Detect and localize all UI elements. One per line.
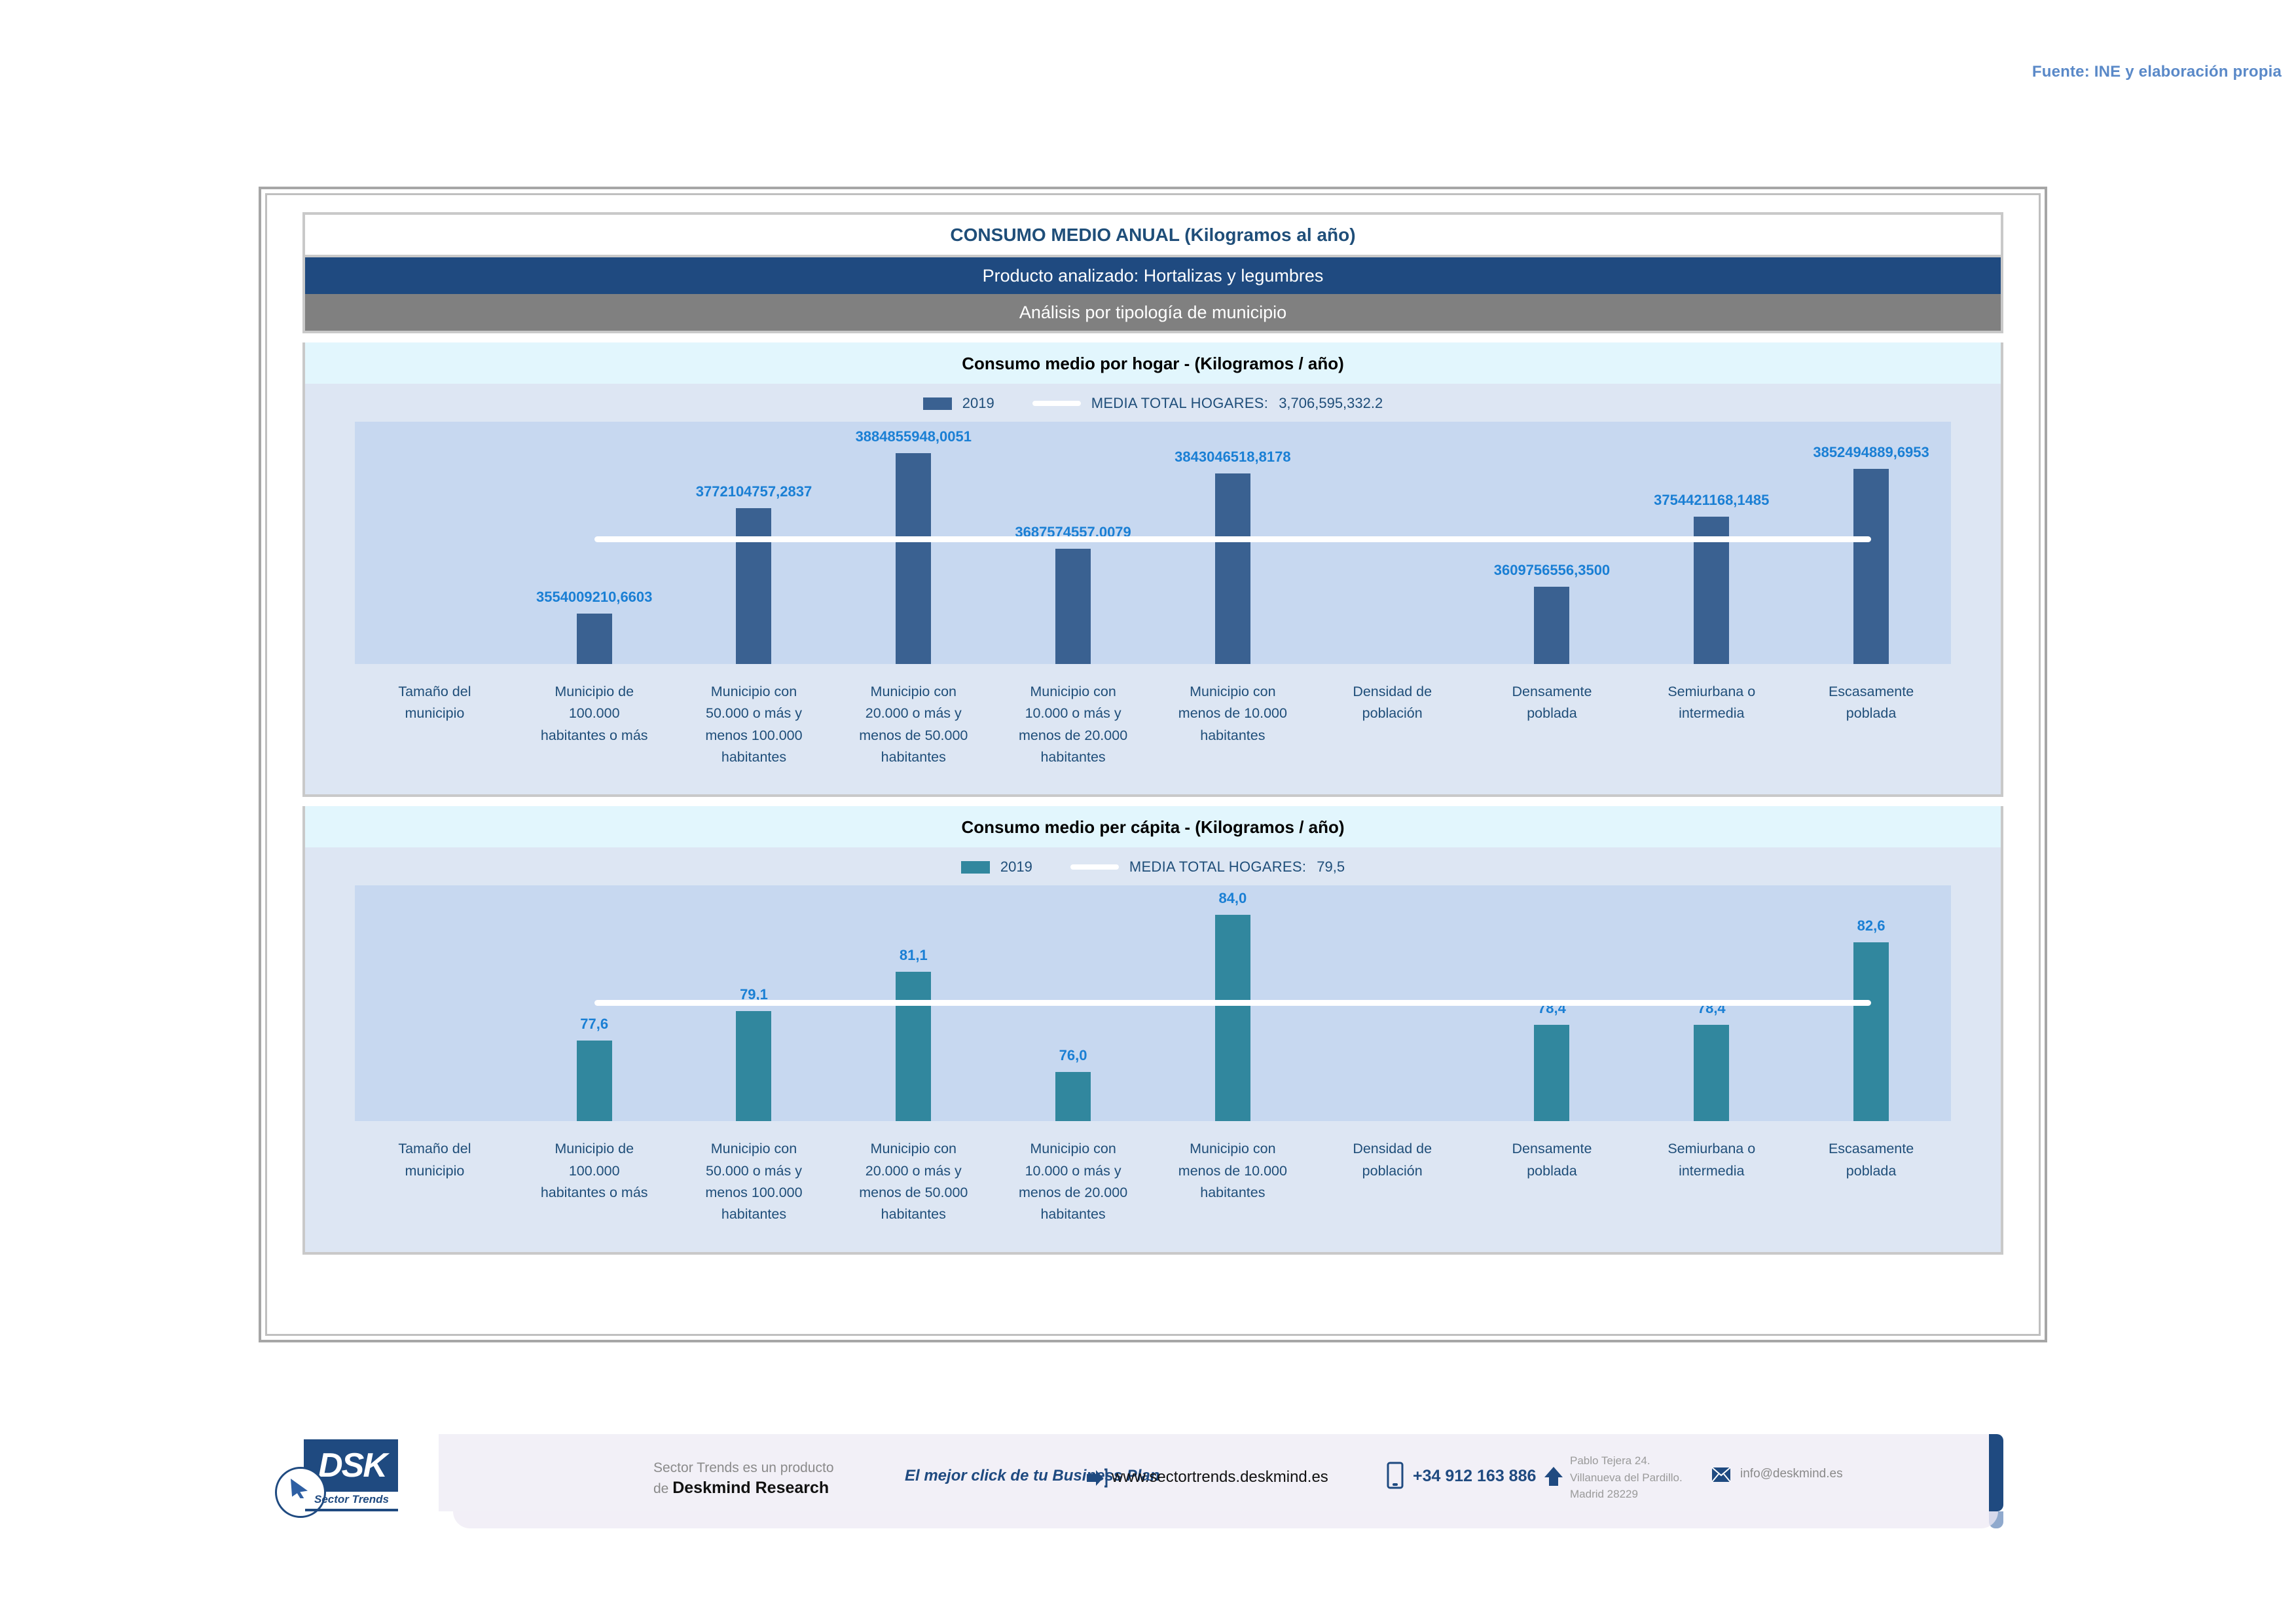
bar-value-label: 84,0	[1218, 890, 1247, 907]
slide-frame-outer: CONSUMO MEDIO ANUAL (Kilogramos al año) …	[259, 187, 2047, 1342]
bar-slot: 3687574557,0079	[993, 422, 1153, 664]
x-axis-category-label: Municipio con20.000 o más ymenos de 50.0…	[833, 681, 993, 768]
x-axis-category-line: 100.000	[517, 703, 672, 724]
bar	[577, 614, 612, 664]
x-axis-category-label: Municipio con50.000 o más ymenos 100.000…	[674, 1138, 834, 1225]
legend-label-2019-percapita: 2019	[1000, 858, 1032, 876]
x-axis-category-label: Municipio de100.000habitantes o más	[515, 1138, 674, 1225]
bar-value-label: 82,6	[1857, 917, 1886, 934]
x-axis-category-line: Municipio con	[836, 681, 991, 703]
mean-line-percapita	[594, 1000, 1871, 1006]
bar	[577, 1041, 612, 1121]
x-axis-category-line: habitantes	[1156, 1182, 1310, 1204]
x-axis-category-line: habitantes	[996, 747, 1150, 768]
x-axis-category-label: Densidad depoblación	[1313, 681, 1472, 768]
bar-value-label: 77,6	[580, 1016, 608, 1033]
bar-slot	[1313, 422, 1472, 664]
x-axis-category-line: población	[1315, 1160, 1470, 1182]
bar	[1215, 915, 1250, 1121]
x-axis-category-line: 20.000 o más y	[836, 703, 991, 724]
plot-wrap-percapita: 77,679,181,176,084,078,478,482,6	[305, 885, 2001, 1121]
bar	[1055, 1072, 1091, 1121]
bar-slot: 3852494889,6953	[1791, 422, 1951, 664]
legend-mean-value-percapita: 79,5	[1317, 858, 1345, 876]
legend-swatch-2019	[923, 397, 952, 410]
x-axis-category-line: Municipio con	[677, 1138, 831, 1160]
page-title: CONSUMO MEDIO ANUAL (Kilogramos al año)	[302, 212, 2003, 257]
x-axis-category-line: menos de 10.000	[1156, 703, 1310, 724]
legend-mean-line-icon-percapita	[1070, 864, 1119, 870]
x-axis-category-line: Escasamente	[1794, 1138, 1948, 1160]
footer-accent-bar	[1989, 1434, 2003, 1511]
legend-label-2019: 2019	[962, 395, 994, 412]
bar-value-label: 76,0	[1059, 1047, 1087, 1064]
section-title-percapita: Consumo medio per cápita - (Kilogramos /…	[302, 806, 2003, 847]
footer: Sector Trends es un producto de Deskmind…	[275, 1428, 2030, 1519]
x-axis-category-label: Semiurbana ointermedia	[1631, 1138, 1791, 1225]
source-note: Fuente: INE y elaboración propia	[2032, 63, 2282, 81]
x-axis-category-label: Escasamentepoblada	[1791, 1138, 1951, 1225]
x-axis-labels-percapita: Tamaño delmunicipioMunicipio de100.000ha…	[305, 1121, 2001, 1251]
bar-value-label: 3754421168,1485	[1654, 492, 1769, 509]
bar	[896, 972, 931, 1121]
x-axis-category-label: Tamaño delmunicipio	[355, 1138, 515, 1225]
x-axis-category-label: Municipio de100.000habitantes o más	[515, 681, 674, 768]
bar-value-label: 3554009210,6603	[536, 589, 652, 606]
x-axis-category-line: habitantes o más	[517, 1182, 672, 1204]
logo-underline	[305, 1509, 398, 1511]
x-axis-category-line: Escasamente	[1794, 681, 1948, 703]
x-axis-category-line: 100.000	[517, 1160, 672, 1182]
x-axis-category-line: intermedia	[1634, 1160, 1789, 1182]
x-axis-category-line: Municipio con	[1156, 1138, 1310, 1160]
footer-email-link[interactable]: info@deskmind.es	[1740, 1467, 1843, 1481]
bar-slot	[355, 885, 515, 1121]
footer-address: Pablo Tejera 24. Villanueva del Pardillo…	[1570, 1452, 1683, 1503]
dsk-logo[interactable]: DSK Sector Trends	[275, 1439, 399, 1513]
analysis-subtitle: Análisis por tipología de municipio	[302, 294, 2003, 333]
bar-slot: 3609756556,3500	[1472, 422, 1632, 664]
x-axis-category-line: habitantes	[677, 1204, 831, 1225]
bar-value-label: 3852494889,6953	[1813, 444, 1929, 461]
footer-product-line2-prefix: de	[653, 1481, 672, 1496]
x-axis-category-label: Tamaño delmunicipio	[355, 681, 515, 768]
bar	[1853, 469, 1889, 664]
x-axis-category-line: población	[1315, 703, 1470, 724]
x-axis-category-line: menos de 20.000	[996, 725, 1150, 747]
phone-icon	[1387, 1462, 1404, 1492]
bar-slot: 3554009210,6603	[515, 422, 674, 664]
chart-panel-percapita: 2019 MEDIA TOTAL HOGARES: 79,5 77,679,18…	[302, 847, 2003, 1254]
bar	[1534, 587, 1569, 664]
footer-product-line1: Sector Trends es un producto	[653, 1459, 834, 1477]
bar-value-label: 81,1	[900, 947, 928, 964]
x-axis-category-line: Municipio con	[677, 681, 831, 703]
x-axis-category-line: habitantes	[836, 747, 991, 768]
x-axis-category-line: Municipio con	[996, 681, 1150, 703]
x-axis-category-line: Municipio de	[517, 1138, 672, 1160]
x-axis-category-label: Escasamentepoblada	[1791, 681, 1951, 768]
footer-phone-number: +34 912 163 886	[1413, 1467, 1536, 1486]
x-axis-category-line: habitantes	[836, 1204, 991, 1225]
x-axis-category-line: Municipio de	[517, 681, 672, 703]
x-axis-category-label: Municipio con20.000 o más ymenos de 50.0…	[833, 1138, 993, 1225]
bar-value-label: 3843046518,8178	[1175, 449, 1290, 466]
bar	[1215, 473, 1250, 664]
x-axis-category-line: Municipio con	[836, 1138, 991, 1160]
x-axis-category-line: habitantes	[1156, 725, 1310, 747]
legend-mean-value: 3,706,595,332.2	[1279, 395, 1383, 412]
legend-swatch-2019-percapita	[961, 861, 990, 874]
x-axis-category-label: Densamentepoblada	[1472, 1138, 1632, 1225]
x-axis-category-line: Densamente	[1475, 681, 1630, 703]
x-axis-category-line: 50.000 o más y	[677, 1160, 831, 1182]
x-axis-category-line: 50.000 o más y	[677, 703, 831, 724]
bar	[1694, 1025, 1729, 1121]
x-axis-category-line: Tamaño del	[357, 1138, 512, 1160]
bar	[1853, 942, 1889, 1121]
bar-slot: 3772104757,2837	[674, 422, 834, 664]
logo-tagline: Sector Trends	[305, 1493, 398, 1506]
bar-value-label: 3609756556,3500	[1494, 562, 1610, 579]
x-axis-category-label: Municipio conmenos de 10.000habitantes	[1153, 1138, 1313, 1225]
x-axis-category-line: Densidad de	[1315, 681, 1470, 703]
x-axis-category-line: Densamente	[1475, 1138, 1630, 1160]
plot-area-percapita: 77,679,181,176,084,078,478,482,6	[355, 885, 1951, 1121]
mean-line-household	[594, 536, 1871, 542]
x-axis-category-line: Semiurbana o	[1634, 1138, 1789, 1160]
x-axis-category-line: Semiurbana o	[1634, 681, 1789, 703]
x-axis-category-line: menos de 50.000	[836, 725, 991, 747]
arrow-right-icon	[1085, 1468, 1108, 1491]
bar-slot: 3754421168,1485	[1631, 422, 1791, 664]
x-axis-category-label: Municipio conmenos de 10.000habitantes	[1153, 681, 1313, 768]
slide-frame-inner: CONSUMO MEDIO ANUAL (Kilogramos al año) …	[265, 193, 2041, 1336]
x-axis-category-line: habitantes o más	[517, 725, 672, 747]
x-axis-category-label: Municipio con10.000 o más ymenos de 20.0…	[993, 681, 1153, 768]
x-axis-category-line: intermedia	[1634, 703, 1789, 724]
x-axis-category-line: Municipio con	[1156, 681, 1310, 703]
x-axis-category-line: habitantes	[996, 1204, 1150, 1225]
x-axis-category-line: menos 100.000	[677, 1182, 831, 1204]
bar	[736, 508, 771, 664]
chart-legend-percapita: 2019 MEDIA TOTAL HOGARES: 79,5	[305, 847, 2001, 885]
bar-slot: 3843046518,8178	[1153, 422, 1313, 664]
x-axis-category-line: Densidad de	[1315, 1138, 1470, 1160]
footer-address-line2: Villanueva del Pardillo.	[1570, 1469, 1683, 1486]
bar	[896, 453, 931, 664]
x-axis-category-line: poblada	[1475, 1160, 1630, 1182]
x-axis-category-label: Municipio con50.000 o más ymenos 100.000…	[674, 681, 834, 768]
bar-series-household: 3554009210,66033772104757,28373884855948…	[355, 422, 1951, 664]
x-axis-category-line: habitantes	[677, 747, 831, 768]
footer-product-note: Sector Trends es un producto de Deskmind…	[653, 1459, 834, 1500]
bar	[736, 1011, 771, 1121]
mail-icon	[1711, 1467, 1731, 1486]
x-axis-category-line: poblada	[1794, 1160, 1948, 1182]
footer-address-line1: Pablo Tejera 24.	[1570, 1452, 1683, 1469]
home-icon	[1544, 1466, 1563, 1490]
plot-wrap-household: 3554009210,66033772104757,28373884855948…	[305, 422, 2001, 664]
plot-area-household: 3554009210,66033772104757,28373884855948…	[355, 422, 1951, 664]
chart-legend-household: 2019 MEDIA TOTAL HOGARES: 3,706,595,332.…	[305, 384, 2001, 422]
x-axis-category-line: 10.000 o más y	[996, 1160, 1150, 1182]
x-axis-category-label: Semiurbana ointermedia	[1631, 681, 1791, 768]
section-title-household: Consumo medio por hogar - (Kilogramos / …	[302, 342, 2003, 384]
bar	[1055, 549, 1091, 664]
x-axis-category-line: poblada	[1475, 703, 1630, 724]
legend-mean-label: MEDIA TOTAL HOGARES:	[1091, 395, 1268, 412]
bar-slot: 3884855948,0051	[833, 422, 993, 664]
x-axis-category-line: menos de 50.000	[836, 1182, 991, 1204]
x-axis-category-line: menos 100.000	[677, 725, 831, 747]
x-axis-category-line: poblada	[1794, 703, 1948, 724]
product-subtitle: Producto analizado: Hortalizas y legumbr…	[302, 257, 2003, 294]
x-axis-category-line: menos de 20.000	[996, 1182, 1150, 1204]
bar-value-label: 3884855948,0051	[856, 428, 972, 445]
x-axis-category-line: municipio	[357, 1160, 512, 1182]
bar-slot	[355, 422, 515, 664]
legend-mean-line-icon	[1032, 401, 1081, 406]
x-axis-labels-household: Tamaño delmunicipioMunicipio de100.000ha…	[305, 664, 2001, 794]
bar	[1534, 1025, 1569, 1121]
x-axis-category-label: Densidad depoblación	[1313, 1138, 1472, 1225]
footer-product-brand: Deskmind Research	[672, 1479, 829, 1497]
x-axis-category-line: Tamaño del	[357, 681, 512, 703]
bar-value-label: 3772104757,2837	[696, 483, 812, 500]
footer-website-link[interactable]: www.sectortrends.deskmind.es	[1112, 1468, 1328, 1486]
x-axis-category-label: Densamentepoblada	[1472, 681, 1632, 768]
x-axis-category-line: municipio	[357, 703, 512, 724]
legend-mean-label-percapita: MEDIA TOTAL HOGARES:	[1129, 858, 1306, 876]
x-axis-category-line: Municipio con	[996, 1138, 1150, 1160]
x-axis-category-line: menos de 10.000	[1156, 1160, 1310, 1182]
x-axis-category-line: 20.000 o más y	[836, 1160, 991, 1182]
x-axis-category-label: Municipio con10.000 o más ymenos de 20.0…	[993, 1138, 1153, 1225]
chart-panel-household: 2019 MEDIA TOTAL HOGARES: 3,706,595,332.…	[302, 384, 2003, 797]
footer-band-shadow	[453, 1511, 1998, 1528]
x-axis-category-line: 10.000 o más y	[996, 703, 1150, 724]
footer-band: Sector Trends es un producto de Deskmind…	[439, 1434, 2003, 1511]
footer-address-line3: Madrid 28229	[1570, 1486, 1683, 1503]
